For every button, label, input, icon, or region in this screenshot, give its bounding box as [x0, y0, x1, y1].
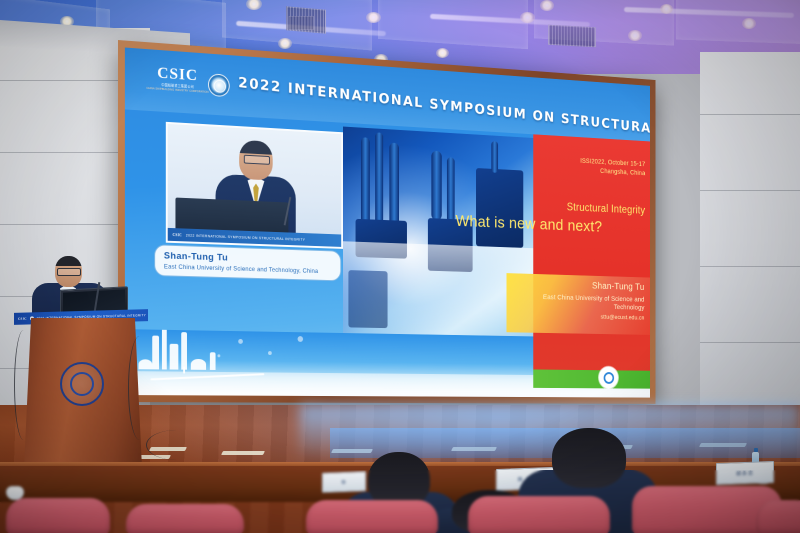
placard-text: 胡永志 — [736, 469, 754, 477]
name-placard: 胡永志 — [716, 461, 774, 485]
ceiling-vent — [288, 16, 314, 30]
csic-logo: CSIC 中国船舶重工集团公司 CHINA SHIPBUILDING INDUS… — [146, 65, 208, 94]
ceiling-downlight — [540, 0, 554, 11]
university-crest-icon — [60, 362, 104, 406]
ceiling-downlight — [660, 4, 673, 14]
ceiling-vent — [548, 25, 596, 48]
auditorium-seat — [756, 500, 800, 533]
ceiling-downlight — [366, 12, 381, 23]
conference-hall-photo: CSIC 中国船舶重工集团公司 CHINA SHIPBUILDING INDUS… — [0, 0, 800, 533]
video-caption-logo: CSIC — [173, 233, 182, 237]
society-emblem-icon — [208, 73, 230, 97]
auditorium-seat — [126, 504, 244, 533]
auditorium-seat — [6, 498, 110, 533]
slide-heading: Structural Integrity — [567, 202, 645, 216]
right-wall — [700, 52, 800, 442]
ceiling-downlight — [436, 48, 449, 58]
slide-author-affiliation: East China University of Science and Tec… — [514, 292, 644, 312]
slide-red-panel: ISSI2022, October 15-17 Changsha, China … — [533, 134, 650, 381]
auditorium-seat — [468, 496, 610, 533]
placard-text: 华 — [341, 478, 347, 485]
led-screen[interactable]: CSIC 中国船舶重工集团公司 CHINA SHIPBUILDING INDUS… — [125, 48, 650, 398]
auditorium-seat — [306, 500, 438, 533]
podium-banner-logo: CSIC — [18, 317, 27, 321]
audience-member-head — [552, 428, 626, 488]
speaker-video-panel[interactable]: CSIC 2022 INTERNATIONAL SYMPOSIUM ON STR… — [166, 122, 343, 249]
speaker-name-plate: Shan-Tung Tu East China University of Sc… — [154, 244, 341, 281]
ceiling-downlight — [520, 12, 535, 23]
slide-author-name: Shan-Tung Tu — [514, 279, 644, 293]
slide-green-band — [533, 369, 650, 388]
slide-author-email: sttu@ecust.edu.cn — [514, 312, 644, 321]
name-placard: 华 — [322, 471, 366, 493]
glasses-icon — [244, 155, 270, 165]
glasses-icon — [57, 268, 81, 276]
led-screen-frame: CSIC 中国船舶重工集团公司 CHINA SHIPBUILDING INDUS… — [118, 40, 655, 404]
video-caption-text: 2022 INTERNATIONAL SYMPOSIUM ON STRUCTUR… — [186, 233, 305, 241]
conference-logo-icon — [599, 367, 618, 389]
ceiling-downlight — [278, 38, 292, 49]
slide-author-box: Shan-Tung Tu East China University of Sc… — [507, 273, 650, 335]
ceiling-downlight — [628, 30, 642, 41]
ceiling-downlight — [742, 18, 756, 29]
event-date-location: ISSI2022, October 15-17 Changsha, China — [580, 157, 645, 179]
